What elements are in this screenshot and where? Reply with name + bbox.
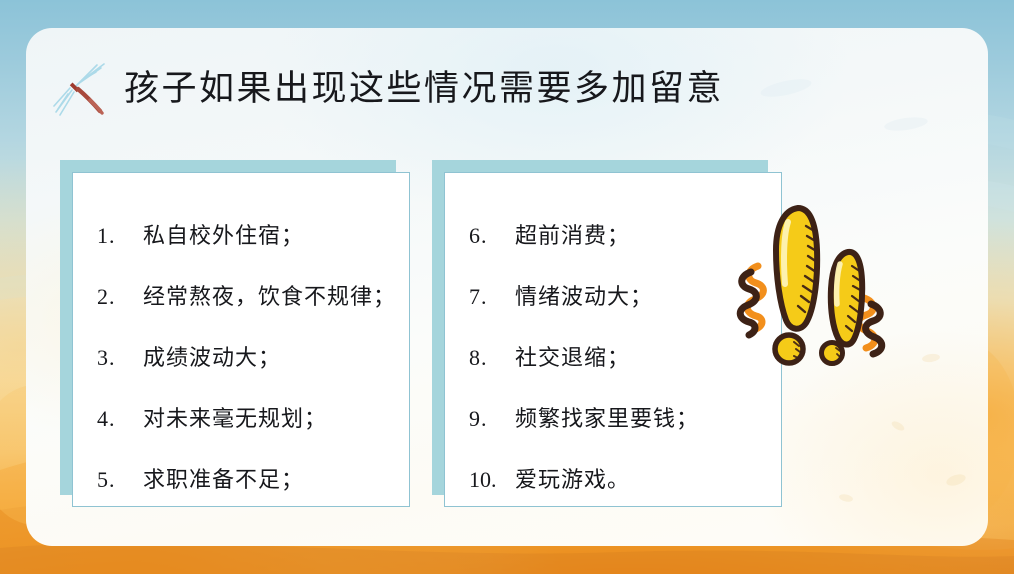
list-item-number: 6.	[469, 223, 515, 249]
list-item-text: 经常熬夜，饮食不规律；	[143, 279, 396, 311]
list-item-number: 3.	[97, 345, 143, 371]
list-item-number: 2.	[97, 284, 143, 310]
list-item-text: 频繁找家里要钱；	[515, 401, 699, 433]
content-panel: 孩子如果出现这些情况需要多加留意 1. 私自校外住宿； 2. 经常熬夜，饮食不规…	[26, 28, 988, 546]
list-item-number: 10.	[469, 467, 515, 493]
list-item: 3. 成绩波动大；	[97, 340, 393, 401]
list-item-number: 9.	[469, 406, 515, 432]
page-title: 孩子如果出现这些情况需要多加留意	[124, 71, 724, 106]
dragonfly-icon	[52, 62, 114, 118]
list-item: 4. 对未来毫无规划；	[97, 401, 393, 462]
slide-canvas: 孩子如果出现这些情况需要多加留意 1. 私自校外住宿； 2. 经常熬夜，饮食不规…	[0, 0, 1014, 574]
list-item-number: 1.	[97, 223, 143, 249]
card-surface-right: 6. 超前消费； 7. 情绪波动大； 8. 社交退缩； 9. 频繁找家里要钱；	[444, 172, 782, 507]
list-item: 9. 频繁找家里要钱；	[469, 401, 765, 462]
list-item: 1. 私自校外住宿；	[97, 218, 393, 279]
list-item-number: 4.	[97, 406, 143, 432]
list-item-number: 7.	[469, 284, 515, 310]
list-item: 8. 社交退缩；	[469, 340, 765, 401]
list-item-text: 爱玩游戏。	[515, 462, 630, 494]
card-surface-left: 1. 私自校外住宿； 2. 经常熬夜，饮食不规律； 3. 成绩波动大； 4. 对…	[72, 172, 410, 507]
list-item-text: 求职准备不足；	[143, 462, 304, 494]
list-item-text: 对未来毫无规划；	[143, 401, 327, 433]
page-title-row: 孩子如果出现这些情况需要多加留意	[52, 58, 724, 118]
list-item: 6. 超前消费；	[469, 218, 765, 279]
list-item: 5. 求职准备不足；	[97, 462, 393, 523]
list-item-text: 情绪波动大；	[515, 279, 653, 311]
list-item-text: 超前消费；	[515, 218, 630, 250]
list-item-number: 8.	[469, 345, 515, 371]
list-item-text: 私自校外住宿；	[143, 218, 304, 250]
list-item-text: 成绩波动大；	[143, 340, 281, 372]
card-body-left: 1. 私自校外住宿； 2. 经常熬夜，饮食不规律； 3. 成绩波动大； 4. 对…	[73, 173, 409, 506]
list-item-text: 社交退缩；	[515, 340, 630, 372]
list-item-number: 5.	[97, 467, 143, 493]
card-body-right: 6. 超前消费； 7. 情绪波动大； 8. 社交退缩； 9. 频繁找家里要钱；	[445, 173, 781, 506]
list-item: 7. 情绪波动大；	[469, 279, 765, 340]
list-item: 2. 经常熬夜，饮食不规律；	[97, 279, 393, 340]
list-item: 10. 爱玩游戏。	[469, 462, 765, 523]
